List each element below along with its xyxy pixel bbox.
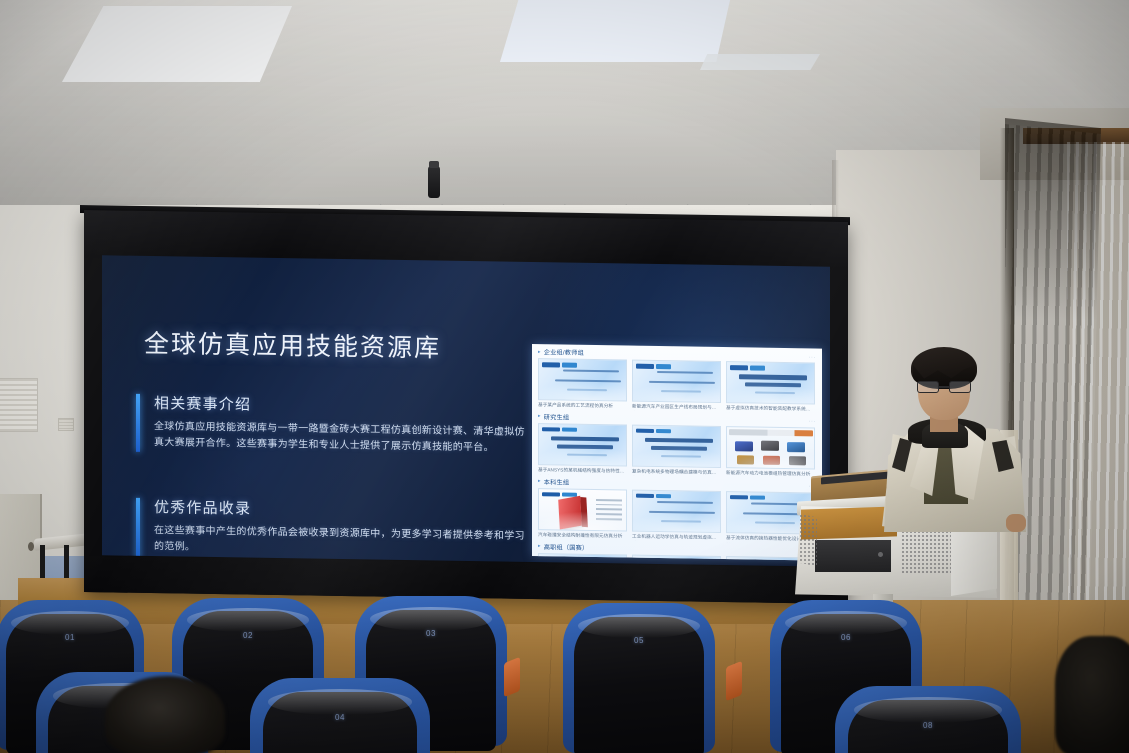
card-thumbnail (538, 358, 627, 401)
seat-number: 08 (923, 721, 933, 730)
card-caption: 工业机器人运动学仿真与轨迹规划虚拟实验 (632, 533, 721, 541)
seat-number: 04 (335, 713, 345, 722)
podium-speaker-grille-left (799, 514, 817, 566)
card-thumbnail (632, 489, 721, 532)
card-caption: 基于某产品系统的工艺流程仿真分析 (538, 402, 627, 410)
section-more-link[interactable]: ... (809, 353, 816, 359)
card-grid: 基于ANSYS的某机械结构强度与热特性仿真分析 复杂机电系统多物理场耦合建模与仿… (538, 423, 816, 478)
audience-head (105, 676, 225, 753)
presenter-hand (1006, 514, 1026, 532)
slide-block-2-body: 在这些赛事中产生的优秀作品会被收录到资源库中，为更多学习者提供参考和学习的范例。 (154, 523, 526, 561)
ventilation-grille-icon (0, 378, 38, 432)
slide-block-1-body: 全球仿真应用技能资源库与一带一路暨金砖大赛工程仿真创新设计赛、清华虚拟仿真大赛展… (154, 419, 526, 457)
accent-bar (136, 498, 140, 560)
card-caption: 基于虚拟仿真技术的智能装配教学系统设计 (726, 405, 815, 413)
seat-number: 06 (841, 633, 851, 642)
resource-card[interactable]: 基于ANSYS的某机械结构强度与热特性仿真分析 (538, 423, 627, 475)
card-caption: 汽车碰撞安全结构耐撞性有限元仿真分析 (538, 532, 627, 540)
slide-block-1: 相关赛事介绍 全球仿真应用技能资源库与一带一路暨金砖大赛工程仿真创新设计赛、清华… (136, 392, 526, 458)
section-label: 企业组/教师组 (544, 347, 584, 357)
chevron-right-icon: ▸ (538, 478, 541, 484)
seat-number: 02 (243, 631, 253, 640)
seat-number: 01 (65, 633, 75, 642)
audience-head (1055, 636, 1129, 753)
resource-card[interactable]: 复杂机电系统多物理场耦合建模与仿真优化研究 (632, 424, 721, 476)
slide-block-2-heading: 优秀作品收录 (154, 496, 526, 523)
card-thumbnail (726, 361, 815, 404)
presenter (880, 342, 1030, 532)
card-thumbnail (632, 554, 721, 560)
card-grid: 基于某产品系统的工艺流程仿真分析 新能源汽车产业园区生产线布局规划与仿真 (538, 358, 816, 413)
card-caption: 复杂机电系统多物理场耦合建模与仿真优化研究 (632, 468, 721, 476)
card-thumbnail (632, 360, 721, 403)
section-label: 高职组（国赛） (544, 542, 589, 552)
slide-block-1-heading: 相关赛事介绍 (154, 392, 526, 419)
podium-equipment-bay (815, 540, 891, 572)
chevron-right-icon: ▸ (538, 543, 541, 549)
projection-screen: 全球仿真应用技能资源库 相关赛事介绍 全球仿真应用技能资源库与一带一路暨金砖大赛… (84, 210, 848, 604)
resource-card[interactable]: 工业机器人运动学仿真与轨迹规划虚拟实验 (632, 489, 721, 541)
card-grid: 汽车碰撞安全结构耐撞性有限元仿真分析 工业机器人运动学仿真与轨迹规划虚拟实验 (538, 488, 816, 543)
card-thumbnail (538, 423, 627, 466)
seat[interactable]: 04 (250, 678, 430, 753)
seat-number: 03 (426, 629, 436, 638)
seat[interactable]: 05 (563, 603, 715, 753)
card-thumbnail (726, 426, 815, 469)
panel-section: ▸ 研究生组 ... 基于ANSYS的某机械结构强度与热特性仿真分析 (532, 409, 822, 478)
resource-card[interactable]: 基于虚拟仿真技术的智能装配教学系统设计 (726, 361, 815, 413)
wall-switch-plate[interactable] (58, 418, 74, 431)
seat-number: 05 (634, 636, 644, 645)
section-label: 研究生组 (544, 412, 570, 421)
presentation-slide: 全球仿真应用技能资源库 相关赛事介绍 全球仿真应用技能资源库与一带一路暨金砖大赛… (102, 255, 830, 566)
panel-section: ▸ 企业组/教师组 ... 基于某产品系统的工艺流程仿真分析 (532, 344, 822, 413)
card-thumbnail (632, 424, 721, 467)
card-caption: 基于ANSYS的某机械结构强度与热特性仿真分析 (538, 467, 627, 475)
chevron-right-icon: ▸ (538, 414, 541, 420)
card-caption: 新能源汽车产业园区生产线布局规划与仿真 (632, 404, 721, 412)
resource-card[interactable] (632, 554, 721, 560)
card-thumbnail (538, 553, 627, 561)
ceiling-light-panel-2 (500, 0, 730, 62)
ceiling-light-panel-3 (700, 54, 820, 70)
chevron-right-icon: ▸ (538, 349, 541, 355)
lecture-hall-photo: 全球仿真应用技能资源库 相关赛事介绍 全球仿真应用技能资源库与一带一路暨金砖大赛… (0, 0, 1129, 753)
resource-card[interactable]: 基于某产品系统的工艺流程仿真分析 (538, 358, 627, 410)
section-label: 本科生组 (544, 477, 570, 486)
seat[interactable]: 08 (835, 686, 1021, 753)
panel-section: ▸ 本科生组 ... 汽车碰撞安全结构耐撞性有限元仿真分析 (532, 474, 822, 543)
resource-card[interactable]: 新能源汽车产业园区生产线布局规划与仿真 (632, 360, 721, 412)
resource-library-screenshot: ▸ 企业组/教师组 ... 基于某产品系统的工艺流程仿真分析 (532, 344, 822, 561)
projector-mount-icon (428, 166, 440, 198)
accent-bar (136, 394, 140, 452)
resource-card[interactable]: 汽车碰撞安全结构耐撞性有限元仿真分析 (538, 488, 627, 540)
resource-card[interactable] (538, 553, 627, 561)
glasses-icon (916, 381, 972, 393)
resource-card[interactable]: 新能源汽车动力电池模组热管理仿真分析 (726, 426, 815, 478)
card-thumbnail (538, 488, 627, 531)
slide-block-2: 优秀作品收录 在这些赛事中产生的优秀作品会被收录到资源库中，为更多学习者提供参考… (136, 496, 526, 562)
armrest (726, 661, 742, 701)
armrest (504, 657, 520, 697)
slide-title: 全球仿真应用技能资源库 (144, 324, 441, 365)
section-more-link[interactable]: ... (809, 418, 816, 424)
